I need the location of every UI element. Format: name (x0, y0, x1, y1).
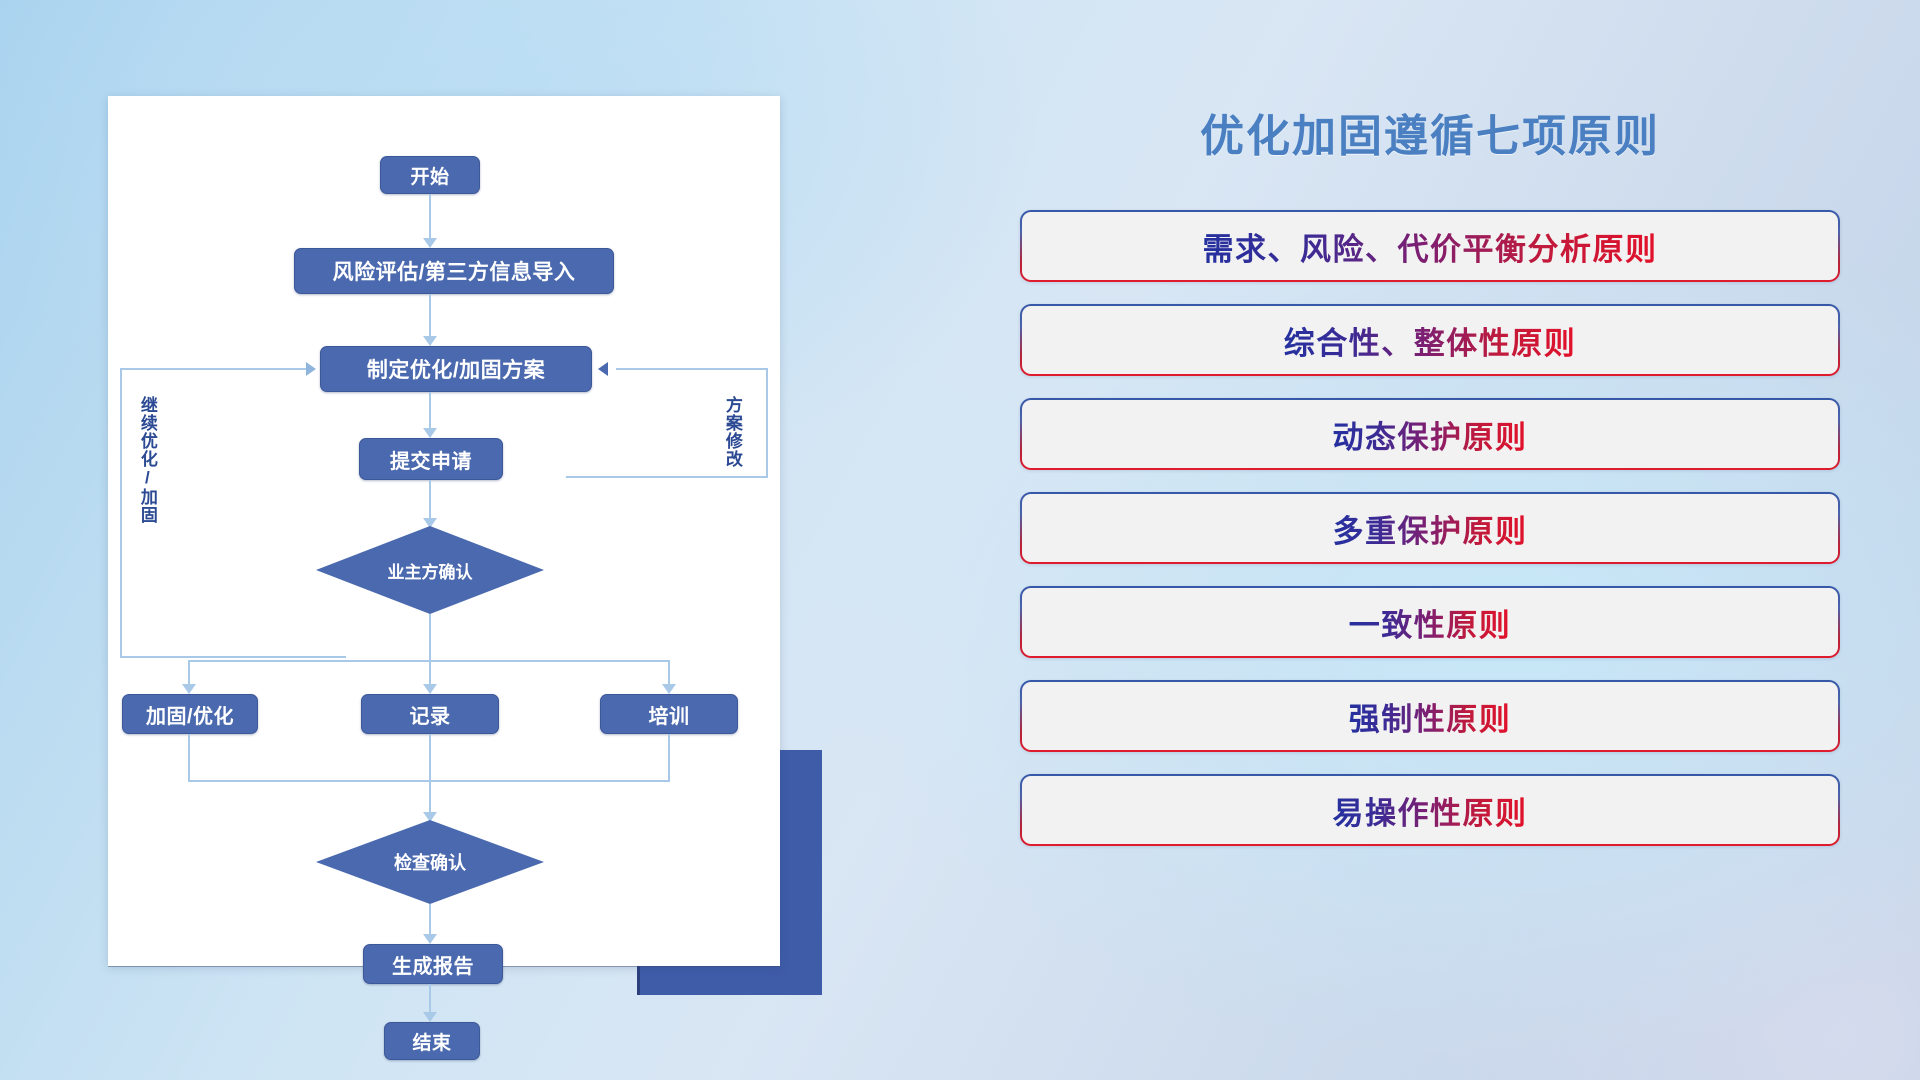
flow-node-end-label: 结束 (412, 1028, 451, 1055)
connector-left-loop-bottom (120, 656, 346, 658)
edge-label-continue-optimize: 继续优化/加固 (138, 396, 156, 524)
arrowhead-fanout-left (182, 684, 196, 694)
connector-right-loop-vertical (766, 368, 768, 478)
connector-left-loop-vertical (120, 368, 122, 658)
principle-item[interactable]: 一致性原则 (1020, 586, 1840, 658)
flow-node-check-confirm-label: 检查确认 (394, 849, 466, 875)
panel-title: 优化加固遵循七项原则 (1020, 100, 1840, 164)
flow-node-record-label: 记录 (410, 700, 451, 729)
principle-item[interactable]: 动态保护原则 (1020, 398, 1840, 470)
flow-node-report-label: 生成报告 (392, 950, 474, 979)
flow-node-risk-assessment[interactable]: 风险评估/第三方信息导入 (294, 248, 614, 294)
principle-item-label: 动态保护原则 (1333, 412, 1528, 457)
connector-merge-left (188, 734, 190, 782)
edge-label-continue-optimize-text: 继续优化/加固 (138, 396, 157, 524)
connector-start-to-risk (429, 194, 431, 244)
arrowhead-fanout-right (662, 684, 676, 694)
principle-item-label: 一致性原则 (1349, 600, 1512, 645)
flow-node-report[interactable]: 生成报告 (363, 944, 503, 984)
flow-node-check-confirm[interactable]: 检查确认 (316, 820, 544, 904)
flow-node-training-label: 培训 (649, 700, 690, 729)
principle-item[interactable]: 多重保护原则 (1020, 492, 1840, 564)
edge-label-plan-revision-text: 方案修改 (723, 396, 742, 468)
flow-node-plan-label: 制定优化/加固方案 (367, 354, 545, 384)
connector-owner-to-fanout (429, 614, 431, 662)
flow-node-submit-label: 提交申请 (390, 445, 472, 474)
flow-node-end[interactable]: 结束 (384, 1022, 480, 1060)
arrowhead-check-to-report (423, 934, 437, 944)
principle-item-label: 多重保护原则 (1333, 506, 1528, 551)
arrowhead-plan-to-submit (423, 428, 437, 438)
flow-node-reinforce[interactable]: 加固/优化 (122, 694, 258, 734)
principle-item-label: 易操作性原则 (1333, 788, 1528, 833)
flow-node-plan[interactable]: 制定优化/加固方案 (320, 346, 592, 392)
connector-risk-to-plan (429, 294, 431, 342)
flow-node-risk-assessment-label: 风险评估/第三方信息导入 (333, 256, 576, 286)
principles-list: 需求、风险、代价平衡分析原则 综合性、整体性原则 动态保护原则 多重保护原则 一… (1020, 210, 1840, 846)
principle-item-label: 强制性原则 (1349, 694, 1512, 739)
principle-item[interactable]: 综合性、整体性原则 (1020, 304, 1840, 376)
flow-node-start[interactable]: 开始 (380, 156, 480, 194)
flow-node-owner-confirm[interactable]: 业主方确认 (316, 526, 544, 614)
connector-merge-mid (429, 734, 431, 782)
flow-node-owner-confirm-label: 业主方确认 (388, 558, 473, 583)
principle-item[interactable]: 易操作性原则 (1020, 774, 1840, 846)
flowchart-card: 开始 风险评估/第三方信息导入 制定优化/加固方案 继续优化/加固 方案修改 (108, 96, 780, 966)
arrowhead-right-loop-into-plan (598, 362, 608, 376)
flow-node-record[interactable]: 记录 (361, 694, 499, 734)
flow-node-training[interactable]: 培训 (600, 694, 738, 734)
arrowhead-risk-to-plan (423, 336, 437, 346)
principles-panel: 优化加固遵循七项原则 需求、风险、代价平衡分析原则 综合性、整体性原则 动态保护… (1020, 100, 1840, 846)
principle-item-label: 需求、风险、代价平衡分析原则 (1203, 224, 1658, 269)
connector-left-loop-top (120, 368, 308, 370)
principle-item[interactable]: 强制性原则 (1020, 680, 1840, 752)
arrowhead-fanout-mid (423, 684, 437, 694)
connector-merge-right (668, 734, 670, 782)
flow-node-submit[interactable]: 提交申请 (359, 438, 503, 480)
edge-label-plan-revision: 方案修改 (723, 396, 741, 468)
flow-node-start-label: 开始 (410, 162, 449, 189)
flow-node-reinforce-label: 加固/优化 (146, 700, 234, 729)
connector-right-loop-top (616, 368, 768, 370)
arrowhead-left-loop-into-plan (306, 362, 316, 376)
arrowhead-report-to-end (423, 1012, 437, 1022)
arrowhead-start-to-risk (423, 238, 437, 248)
principle-item[interactable]: 需求、风险、代价平衡分析原则 (1020, 210, 1840, 282)
principle-item-label: 综合性、整体性原则 (1284, 318, 1577, 363)
flowchart-canvas: 开始 风险评估/第三方信息导入 制定优化/加固方案 继续优化/加固 方案修改 (108, 96, 780, 966)
connector-right-loop-bottom (566, 476, 768, 478)
